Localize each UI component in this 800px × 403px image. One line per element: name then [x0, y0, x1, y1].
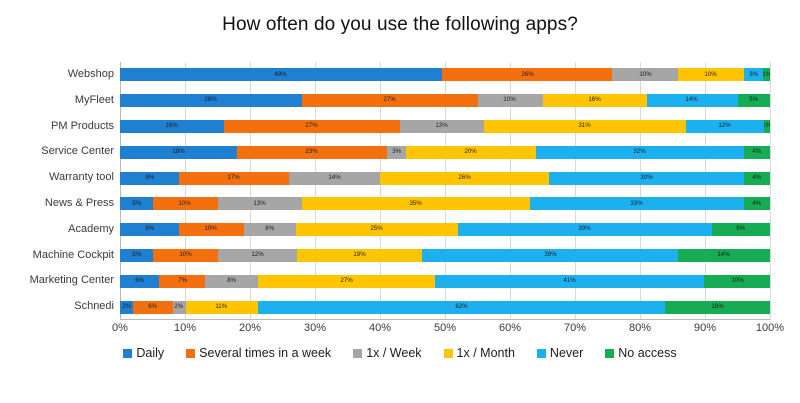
bar-segment[interactable]: 49% — [120, 68, 442, 81]
bar-segment[interactable]: 5% — [738, 94, 771, 107]
bar-segment[interactable]: 26% — [442, 68, 613, 81]
bar-segment[interactable]: 14% — [289, 172, 380, 185]
bar-segment-value-label: 10% — [179, 201, 191, 207]
bar-segment-value-label: 16% — [166, 123, 178, 129]
bar-segment[interactable]: 16% — [120, 120, 224, 133]
bar-row: 5%10%12%19%39%14% — [120, 249, 770, 262]
bar-segment-value-label: 6% — [135, 278, 144, 284]
bar-segment-value-label: 20% — [465, 149, 477, 155]
bar-segment[interactable]: 11% — [186, 301, 258, 314]
y-axis-category-labels: WebshopMyFleetPM ProductsService CenterW… — [0, 62, 114, 320]
bar-segment-value-label: 25% — [371, 227, 383, 233]
legend-swatch-icon — [186, 349, 195, 358]
legend-swatch-icon — [605, 349, 614, 358]
bar-segment[interactable]: 23% — [237, 146, 387, 159]
legend-item-daily[interactable]: Daily — [123, 346, 164, 360]
bar-segment[interactable]: 9% — [120, 172, 179, 185]
bar-segment[interactable]: 18% — [120, 146, 237, 159]
bar-row: 5%10%13%35%33%4% — [120, 197, 770, 210]
bar-segment-value-label: 23% — [306, 149, 318, 155]
bar-segment[interactable]: 39% — [422, 249, 678, 262]
bar-segment[interactable]: 8% — [205, 275, 258, 288]
bar-segment[interactable]: 31% — [484, 120, 686, 133]
legend-item-1x-month[interactable]: 1x / Month — [444, 346, 515, 360]
y-axis-label-academy: Academy — [0, 223, 114, 235]
bar-segment[interactable]: 4% — [744, 146, 770, 159]
bar-segment[interactable]: 1% — [764, 120, 771, 133]
x-axis-tick-60: 60% — [499, 322, 521, 334]
bar-segment[interactable]: 39% — [458, 223, 712, 236]
bar-segment-value-label: 31% — [579, 123, 591, 129]
x-axis-tick-20: 20% — [239, 322, 261, 334]
legend-item-never[interactable]: Never — [537, 346, 583, 360]
bar-segment-value-label: 5% — [749, 98, 758, 104]
bar-row: 9%17%14%26%30%4% — [120, 172, 770, 185]
bar-row: 18%23%3%20%32%4% — [120, 146, 770, 159]
x-axis-tick-30: 30% — [304, 322, 326, 334]
bar-segment[interactable]: 5% — [120, 197, 153, 210]
bar-segment[interactable]: 10% — [153, 249, 219, 262]
bar-segment[interactable]: 3% — [744, 68, 764, 81]
bar-segment[interactable]: 28% — [120, 94, 302, 107]
x-axis-tick-50: 50% — [434, 322, 456, 334]
bar-segment-value-label: 33% — [631, 201, 643, 207]
bar-row: 28%27%10%16%14%5% — [120, 94, 770, 107]
bar-segment-value-label: 10% — [705, 72, 717, 78]
bar-segment-value-label: 5% — [132, 201, 141, 207]
y-axis-label-machine-cockpit: Machine Cockpit — [0, 249, 114, 261]
bar-segment[interactable]: 12% — [686, 120, 764, 133]
bar-segment-value-label: 27% — [306, 123, 318, 129]
bar-segment-value-label: 18% — [172, 149, 184, 155]
bar-segment-value-label: 5% — [132, 252, 141, 258]
bar-segment[interactable]: 33% — [530, 197, 745, 210]
bar-segment[interactable]: 8% — [244, 223, 296, 236]
legend-item-1x-week[interactable]: 1x / Week — [353, 346, 421, 360]
legend-label: Several times in a week — [199, 346, 331, 360]
bar-segment[interactable]: 1% — [763, 68, 770, 81]
x-axis-tick-90: 90% — [694, 322, 716, 334]
chart-container: How often do you use the following apps?… — [0, 0, 800, 403]
bar-segment-value-label: 30% — [640, 175, 652, 181]
bar-segment[interactable]: 27% — [302, 94, 478, 107]
legend-swatch-icon — [353, 349, 362, 358]
bar-segment[interactable]: 5% — [120, 249, 153, 262]
bar-segment[interactable]: 19% — [297, 249, 422, 262]
bar-segment[interactable]: 27% — [258, 275, 435, 288]
bar-segment[interactable]: 16% — [665, 301, 770, 314]
bar-segment-value-label: 14% — [718, 252, 730, 258]
legend-swatch-icon — [123, 349, 132, 358]
bar-segment[interactable]: 4% — [744, 172, 770, 185]
bar-segment[interactable]: 6% — [133, 301, 172, 314]
bar-segment-value-label: 32% — [634, 149, 646, 155]
bar-segment-value-label: 4% — [753, 149, 762, 155]
bar-segment-value-label: 16% — [711, 304, 723, 310]
legend-label: 1x / Month — [457, 346, 515, 360]
bar-segment[interactable]: 10% — [153, 197, 218, 210]
bar-segment-value-label: 39% — [544, 252, 556, 258]
bar-segment-value-label: 11% — [216, 304, 228, 310]
bar-segment[interactable]: 26% — [380, 172, 549, 185]
bar-segment[interactable]: 62% — [258, 301, 665, 314]
bar-segment-value-label: 4% — [753, 201, 762, 207]
bar-segment-value-label: 16% — [588, 98, 600, 104]
y-axis-label-marketing-center: Marketing Center — [0, 274, 114, 286]
bar-segment-value-label: 26% — [521, 72, 533, 78]
bar-segment[interactable]: 27% — [224, 120, 400, 133]
y-axis-label-service-center: Service Center — [0, 145, 114, 157]
legend-swatch-icon — [444, 349, 453, 358]
gridline — [770, 62, 771, 320]
bar-segment-value-label: 1% — [763, 72, 770, 78]
y-axis-label-news-press: News & Press — [0, 197, 114, 209]
chart-title: How often do you use the following apps? — [0, 14, 800, 36]
bar-segment-value-label: 62% — [455, 304, 467, 310]
bar-segment[interactable]: 12% — [218, 249, 297, 262]
bar-row: 16%27%13%31%12%1% — [120, 120, 770, 133]
x-axis-tick-40: 40% — [369, 322, 391, 334]
bar-segment[interactable]: 2% — [173, 301, 186, 314]
bar-segment-value-label: 27% — [384, 98, 396, 104]
bar-segment-value-label: 8% — [265, 227, 274, 233]
bar-segment-value-label: 4% — [753, 175, 762, 181]
y-axis-label-schnedi: Schnedi — [0, 300, 114, 312]
legend-label: 1x / Week — [366, 346, 421, 360]
bar-segment-value-label: 10% — [504, 98, 516, 104]
bar-segment-value-label: 35% — [410, 201, 422, 207]
legend-item-no-access[interactable]: No access — [605, 346, 676, 360]
bar-segment[interactable]: 10% — [678, 68, 744, 81]
bar-segment[interactable]: 25% — [296, 223, 459, 236]
bar-segment[interactable]: 10% — [704, 275, 770, 288]
bar-segment-value-label: 12% — [718, 123, 730, 129]
bar-segment-value-label: 6% — [148, 304, 157, 310]
bar-segment[interactable]: 6% — [120, 275, 159, 288]
stacked-bar-rows: 49%26%10%10%3%1%28%27%10%16%14%5%16%27%1… — [120, 62, 770, 320]
bar-row: 2%6%2%11%62%16% — [120, 301, 770, 314]
y-axis-label-pm-products: PM Products — [0, 120, 114, 132]
bar-segment-value-label: 27% — [340, 278, 352, 284]
chart-legend: DailySeveral times in a week1x / Week1x … — [0, 346, 800, 360]
bar-segment-value-label: 2% — [122, 304, 131, 310]
bar-segment-value-label: 19% — [353, 252, 365, 258]
bar-segment[interactable]: 35% — [302, 197, 530, 210]
bar-segment-value-label: 10% — [205, 227, 217, 233]
legend-label: No access — [618, 346, 676, 360]
bar-segment[interactable]: 30% — [549, 172, 744, 185]
bar-segment-value-label: 7% — [178, 278, 187, 284]
x-axis-tick-labels: 0%10%20%30%40%50%60%70%80%90%100% — [120, 322, 770, 340]
bar-segment[interactable]: 10% — [179, 223, 244, 236]
bar-segment[interactable]: 9% — [120, 223, 179, 236]
bar-segment-value-label: 9% — [736, 227, 745, 233]
bar-segment[interactable]: 14% — [647, 94, 738, 107]
legend-item-several-times-in-a-week[interactable]: Several times in a week — [186, 346, 331, 360]
bar-segment[interactable]: 10% — [478, 94, 543, 107]
legend-swatch-icon — [537, 349, 546, 358]
bar-row: 6%7%8%27%41%10% — [120, 275, 770, 288]
y-axis-label-webshop: Webshop — [0, 68, 114, 80]
x-axis-tick-80: 80% — [629, 322, 651, 334]
plot-area: 49%26%10%10%3%1%28%27%10%16%14%5%16%27%1… — [120, 62, 770, 320]
bar-segment-value-label: 2% — [175, 304, 184, 310]
bar-segment[interactable]: 4% — [744, 197, 770, 210]
bar-segment[interactable]: 9% — [712, 223, 771, 236]
bar-segment-value-label: 9% — [145, 175, 154, 181]
bar-segment[interactable]: 16% — [543, 94, 647, 107]
bar-segment-value-label: 3% — [749, 72, 758, 78]
bar-segment-value-label: 13% — [254, 201, 266, 207]
bar-segment[interactable]: 2% — [120, 301, 133, 314]
bar-segment-value-label: 28% — [205, 98, 217, 104]
bar-segment-value-label: 10% — [731, 278, 743, 284]
bar-segment[interactable]: 32% — [536, 146, 744, 159]
bar-segment-value-label: 10% — [639, 72, 651, 78]
bar-segment-value-label: 39% — [579, 227, 591, 233]
bar-segment-value-label: 10% — [179, 252, 191, 258]
bar-segment[interactable]: 14% — [678, 249, 770, 262]
bar-segment[interactable]: 41% — [435, 275, 704, 288]
bar-segment-value-label: 17% — [228, 175, 240, 181]
x-axis-tick-10: 10% — [174, 322, 196, 334]
bar-segment-value-label: 14% — [328, 175, 340, 181]
bar-row: 49%26%10%10%3%1% — [120, 68, 770, 81]
bar-segment-value-label: 14% — [686, 98, 698, 104]
bar-segment-value-label: 41% — [564, 278, 576, 284]
bar-segment-value-label: 9% — [145, 227, 154, 233]
bar-segment-value-label: 13% — [436, 123, 448, 129]
legend-label: Never — [550, 346, 583, 360]
bar-segment-value-label: 26% — [458, 175, 470, 181]
bar-segment[interactable]: 17% — [179, 172, 290, 185]
x-axis-tick-0: 0% — [112, 322, 128, 334]
bar-segment-value-label: 49% — [275, 72, 287, 78]
bar-row: 9%10%8%25%39%9% — [120, 223, 770, 236]
bar-segment-value-label: 3% — [392, 149, 401, 155]
bar-segment-value-label: 8% — [227, 278, 236, 284]
legend-label: Daily — [136, 346, 164, 360]
bar-segment[interactable]: 10% — [612, 68, 678, 81]
y-axis-label-myfleet: MyFleet — [0, 94, 114, 106]
x-axis-tick-100: 100% — [756, 322, 784, 334]
bar-segment-value-label: 1% — [764, 123, 771, 129]
bar-segment[interactable]: 20% — [406, 146, 536, 159]
y-axis-label-warranty-tool: Warranty tool — [0, 171, 114, 183]
x-axis-tick-70: 70% — [564, 322, 586, 334]
bar-segment[interactable]: 13% — [218, 197, 303, 210]
bar-segment[interactable]: 7% — [159, 275, 205, 288]
bar-segment[interactable]: 13% — [400, 120, 485, 133]
bar-segment-value-label: 12% — [252, 252, 264, 258]
bar-segment[interactable]: 3% — [387, 146, 407, 159]
